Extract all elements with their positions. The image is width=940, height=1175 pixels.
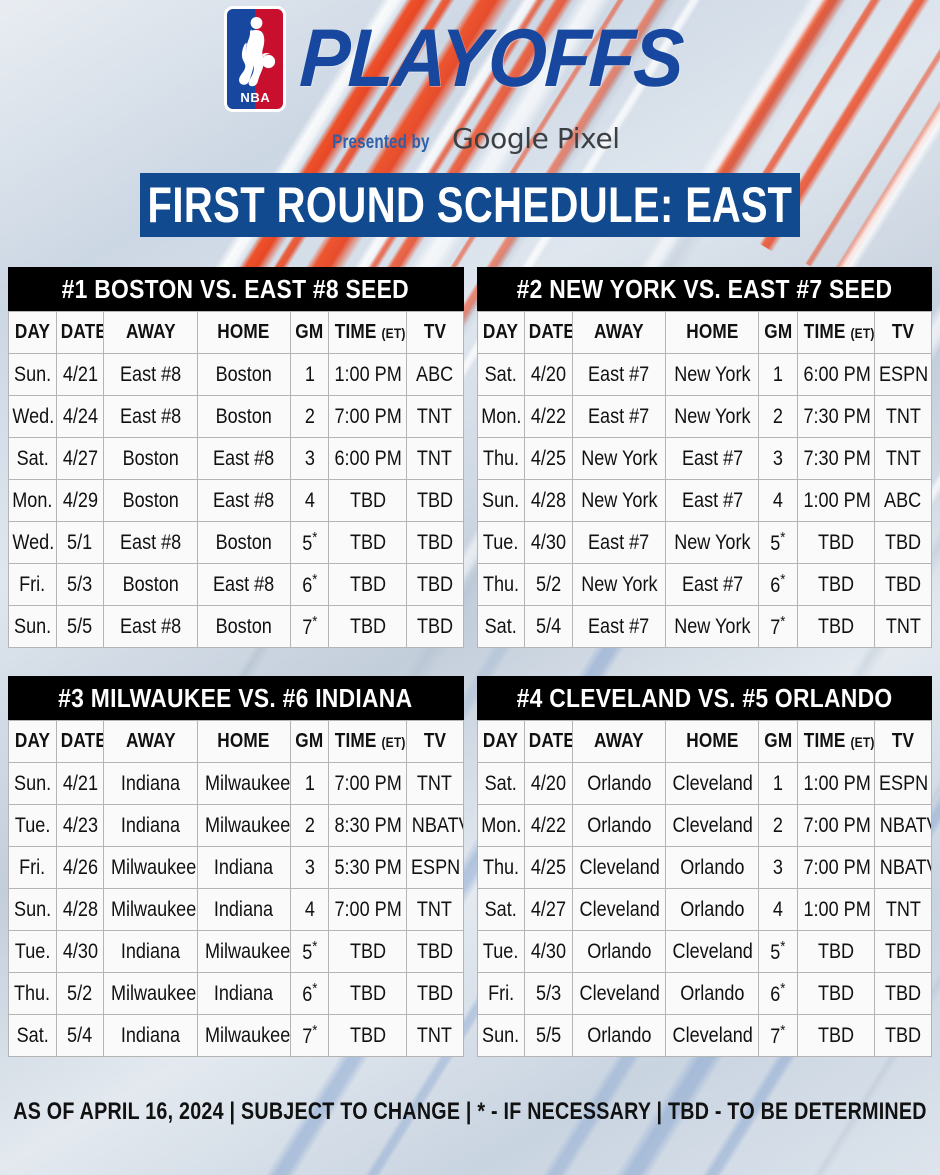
cell-value-date: 4/30	[531, 531, 566, 555]
cell-value-date: 5/4	[68, 1024, 93, 1048]
table-row: Thu.4/25ClevelandOrlando37:00 PMNBATV	[477, 847, 932, 889]
column-header-away: AWAY	[104, 721, 197, 763]
cell-date: 4/30	[56, 931, 104, 973]
cell-value-home: East #7	[682, 489, 743, 513]
cell-value-away: Cleveland	[579, 898, 659, 922]
cell-value-away: New York	[581, 489, 657, 513]
footer: AS OF APRIL 16, 2024 | SUBJECT TO CHANGE…	[0, 1083, 940, 1141]
column-header-day: DAY	[9, 721, 57, 763]
cell-value-away: Orlando	[587, 814, 651, 838]
series-title-bar: #2 NEW YORK VS. EAST #7 SEED	[477, 267, 933, 311]
cell-day: Fri.	[9, 564, 57, 606]
cell-value-home: Milwaukee	[205, 1024, 290, 1048]
cell-away: East #7	[572, 396, 665, 438]
cell-tv: ESPN	[875, 763, 932, 805]
cell-value-tv: TNT	[417, 405, 452, 429]
cell-value-home: Indiana	[214, 982, 273, 1006]
column-header-date: DATE	[56, 312, 104, 354]
cell-home: Cleveland	[666, 931, 759, 973]
cell-value-home: Boston	[216, 405, 272, 429]
cell-home: Boston	[197, 396, 290, 438]
cell-time: 1:00 PM	[329, 354, 406, 396]
cell-value-date: 4/21	[63, 772, 98, 796]
table-row: Sun.4/21East #8Boston11:00 PMABC	[9, 354, 464, 396]
cell-tv: TBD	[406, 522, 463, 564]
table-row: Sun.4/28MilwaukeeIndiana47:00 PMTNT	[9, 889, 464, 931]
game-number: 5*	[771, 938, 786, 965]
cell-away: East #7	[572, 522, 665, 564]
cell-value-time: 7:00 PM	[335, 405, 402, 429]
cell-value-date: 4/27	[63, 447, 98, 471]
cell-value-tv: TNT	[886, 447, 921, 471]
cell-gm: 3	[290, 438, 329, 480]
cell-day: Sat.	[9, 1015, 57, 1057]
cell-gm: 3	[290, 847, 329, 889]
sponsor-logo-text: Google Pixel	[452, 122, 620, 155]
cell-away: Cleveland	[572, 847, 665, 889]
game-number: 6*	[302, 980, 317, 1007]
cell-time: TBD	[797, 973, 874, 1015]
cell-day: Tue.	[477, 931, 525, 973]
cell-away: Indiana	[104, 931, 197, 973]
cell-value-time: TBD	[349, 531, 385, 555]
cell-tv: TNT	[406, 763, 463, 805]
game-number: 7*	[771, 613, 786, 640]
cell-value-date: 4/24	[63, 405, 98, 429]
cell-value-time: TBD	[818, 1024, 854, 1048]
game-number: 3	[305, 447, 315, 471]
cell-time: 7:00 PM	[329, 763, 406, 805]
column-header-date: DATE	[525, 312, 573, 354]
cell-day: Wed.	[9, 396, 57, 438]
cell-value-away: East #7	[588, 405, 649, 429]
table-row: Sat.5/4East #7New York7*TBDTNT	[477, 606, 932, 648]
game-number: 4	[773, 898, 783, 922]
cell-home: New York	[666, 354, 759, 396]
series-title-text: #3 MILWAUKEE VS. #6 INDIANA	[59, 683, 413, 714]
cell-value-date: 4/28	[531, 489, 566, 513]
cell-tv: TNT	[875, 606, 932, 648]
game-number: 2	[305, 405, 315, 429]
cell-value-home: Boston	[216, 531, 272, 555]
cell-tv: TBD	[406, 931, 463, 973]
cell-home: Boston	[197, 354, 290, 396]
game-number: 5*	[302, 529, 317, 556]
time-header-unit: (ET)	[382, 734, 406, 750]
series-panel: #1 BOSTON VS. EAST #8 SEEDDAYDATEAWAYHOM…	[8, 267, 464, 648]
cell-tv: TBD	[875, 931, 932, 973]
cell-away: Orlando	[572, 931, 665, 973]
cell-value-day: Tue.	[15, 940, 50, 964]
cell-value-day: Sat.	[485, 363, 517, 387]
column-header-day: DAY	[477, 721, 525, 763]
cell-value-time: TBD	[349, 940, 385, 964]
cell-gm: 2	[290, 396, 329, 438]
cell-home: Indiana	[197, 973, 290, 1015]
cell-away: Indiana	[104, 805, 197, 847]
cell-value-time: TBD	[349, 982, 385, 1006]
series-title-bar: #1 BOSTON VS. EAST #8 SEED	[8, 267, 464, 311]
header: NBA PLAYOFFS Presented by Google Pixel	[0, 0, 940, 165]
cell-value-tv: NBATV	[880, 814, 932, 838]
cell-time: 7:00 PM	[797, 847, 874, 889]
time-header-unit: (ET)	[850, 734, 874, 750]
playoffs-wordmark: PLAYOFFS	[298, 20, 684, 98]
game-number: 3	[773, 447, 783, 471]
cell-gm: 2	[290, 805, 329, 847]
cell-value-away: Orlando	[587, 940, 651, 964]
cell-value-date: 4/25	[531, 447, 566, 471]
cell-value-time: TBD	[818, 531, 854, 555]
cell-value-away: New York	[581, 573, 657, 597]
cell-value-time: TBD	[349, 615, 385, 639]
cell-tv: TNT	[875, 438, 932, 480]
cell-day: Sat.	[9, 438, 57, 480]
if-necessary-marker: *	[781, 980, 786, 997]
cell-value-day: Sat.	[16, 447, 48, 471]
cell-value-day: Thu.	[483, 447, 519, 471]
if-necessary-marker: *	[312, 980, 317, 997]
if-necessary-marker: *	[312, 938, 317, 955]
cell-home: Orlando	[666, 889, 759, 931]
cell-day: Thu.	[477, 847, 525, 889]
cell-day: Sat.	[477, 354, 525, 396]
cell-gm: 3	[759, 438, 798, 480]
table-row: Sat.4/27BostonEast #836:00 PMTNT	[9, 438, 464, 480]
table-row: Fri.4/26MilwaukeeIndiana35:30 PMESPN	[9, 847, 464, 889]
series-title-text: #2 NEW YORK VS. EAST #7 SEED	[516, 274, 892, 305]
cell-away: New York	[572, 480, 665, 522]
cell-value-tv: TBD	[885, 982, 921, 1006]
cell-value-time: 7:30 PM	[803, 447, 870, 471]
time-header-unit: (ET)	[850, 325, 874, 341]
cell-date: 5/2	[56, 973, 104, 1015]
cell-away: Boston	[104, 438, 197, 480]
cell-away: New York	[572, 564, 665, 606]
cell-away: Milwaukee	[104, 889, 197, 931]
cell-tv: ESPN	[406, 847, 463, 889]
cell-away: Orlando	[572, 805, 665, 847]
cell-value-time: TBD	[818, 573, 854, 597]
cell-gm: 2	[759, 805, 798, 847]
if-necessary-marker: *	[312, 529, 317, 546]
cell-value-tv: TBD	[885, 531, 921, 555]
table-header-row: DAYDATEAWAYHOMEGMTIME (ET)TV	[9, 721, 464, 763]
cell-gm: 6*	[759, 564, 798, 606]
cell-day: Thu.	[477, 438, 525, 480]
cell-value-date: 4/30	[531, 940, 566, 964]
cell-gm: 5*	[759, 522, 798, 564]
nba-player-silhouette-icon	[232, 14, 278, 92]
table-header-row: DAYDATEAWAYHOMEGMTIME (ET)TV	[477, 312, 932, 354]
cell-time: 1:00 PM	[797, 889, 874, 931]
game-number: 5*	[771, 529, 786, 556]
table-row: Sat.4/20OrlandoCleveland11:00 PMESPN	[477, 763, 932, 805]
cell-value-tv: TBD	[417, 573, 453, 597]
presented-by-row: Presented by Google Pixel	[0, 122, 940, 155]
cell-value-time: TBD	[349, 489, 385, 513]
cell-time: TBD	[797, 1015, 874, 1057]
cell-value-date: 4/27	[531, 898, 566, 922]
table-row: Sun.4/21IndianaMilwaukee17:00 PMTNT	[9, 763, 464, 805]
cell-away: Orlando	[572, 763, 665, 805]
cell-gm: 1	[759, 354, 798, 396]
table-row: Sat.4/27ClevelandOrlando41:00 PMTNT	[477, 889, 932, 931]
game-number: 4	[305, 898, 315, 922]
cell-date: 5/4	[56, 1015, 104, 1057]
cell-value-day: Tue.	[483, 531, 518, 555]
cell-value-away: Indiana	[121, 814, 180, 838]
cell-tv: TBD	[875, 522, 932, 564]
column-header-day: DAY	[9, 312, 57, 354]
game-number: 6*	[771, 571, 786, 598]
cell-gm: 3	[759, 847, 798, 889]
cell-value-tv: TNT	[417, 447, 452, 471]
cell-day: Thu.	[477, 564, 525, 606]
cell-time: 7:30 PM	[797, 438, 874, 480]
cell-value-date: 4/22	[531, 814, 566, 838]
game-number: 4	[773, 489, 783, 513]
cell-away: Orlando	[572, 1015, 665, 1057]
cell-value-tv: TBD	[417, 940, 453, 964]
cell-date: 4/21	[56, 354, 104, 396]
cell-value-away: Cleveland	[579, 856, 659, 880]
if-necessary-marker: *	[781, 613, 786, 630]
cell-date: 4/25	[525, 847, 573, 889]
cell-value-time: TBD	[349, 573, 385, 597]
cell-value-tv: NBATV	[411, 814, 463, 838]
cell-value-away: East #7	[588, 531, 649, 555]
cell-gm: 5*	[290, 522, 329, 564]
cell-time: 7:00 PM	[329, 889, 406, 931]
cell-away: East #7	[572, 606, 665, 648]
time-header-unit: (ET)	[382, 325, 406, 341]
cell-value-home: Boston	[216, 615, 272, 639]
cell-value-time: 1:00 PM	[803, 898, 870, 922]
cell-date: 4/20	[525, 354, 573, 396]
cell-date: 5/2	[525, 564, 573, 606]
cell-value-home: Indiana	[214, 898, 273, 922]
cell-value-date: 4/29	[63, 489, 98, 513]
cell-gm: 1	[290, 763, 329, 805]
cell-tv: TNT	[406, 889, 463, 931]
cell-tv: TNT	[406, 1015, 463, 1057]
column-header-home: HOME	[197, 721, 290, 763]
table-row: Fri.5/3ClevelandOrlando6*TBDTBD	[477, 973, 932, 1015]
cell-home: East #7	[666, 564, 759, 606]
cell-value-time: TBD	[818, 615, 854, 639]
cell-value-tv: TBD	[417, 489, 453, 513]
table-row: Sun.5/5OrlandoCleveland7*TBDTBD	[477, 1015, 932, 1057]
cell-date: 4/29	[56, 480, 104, 522]
cell-tv: ABC	[875, 480, 932, 522]
series-schedule-table: DAYDATEAWAYHOMEGMTIME (ET)TVSun.4/21Indi…	[8, 720, 464, 1057]
cell-value-date: 4/20	[531, 772, 566, 796]
cell-value-home: Orlando	[680, 982, 744, 1006]
cell-time: TBD	[797, 931, 874, 973]
cell-time: TBD	[329, 931, 406, 973]
cell-time: TBD	[329, 973, 406, 1015]
column-header-date: DATE	[56, 721, 104, 763]
page-title-conference: EAST	[686, 177, 793, 233]
column-header-home: HOME	[197, 312, 290, 354]
cell-gm: 5*	[759, 931, 798, 973]
cell-tv: TNT	[875, 889, 932, 931]
cell-value-tv: TBD	[417, 982, 453, 1006]
cell-value-date: 5/5	[68, 615, 93, 639]
cell-value-home: Milwaukee	[205, 940, 290, 964]
cell-away: Cleveland	[572, 889, 665, 931]
cell-value-date: 5/3	[68, 573, 93, 597]
column-header-home: HOME	[666, 312, 759, 354]
cell-value-day: Mon.	[481, 405, 521, 429]
cell-date: 5/1	[56, 522, 104, 564]
cell-day: Tue.	[9, 931, 57, 973]
game-number: 1	[305, 772, 315, 796]
cell-value-away: New York	[581, 447, 657, 471]
cell-away: Boston	[104, 480, 197, 522]
cell-value-away: Orlando	[587, 1024, 651, 1048]
cell-away: Milwaukee	[104, 847, 197, 889]
cell-value-time: 1:00 PM	[803, 489, 870, 513]
cell-date: 4/24	[56, 396, 104, 438]
cell-gm: 4	[290, 480, 329, 522]
cell-value-date: 4/23	[63, 814, 98, 838]
cell-value-date: 4/30	[63, 940, 98, 964]
cell-value-home: Boston	[216, 363, 272, 387]
cell-value-time: TBD	[818, 940, 854, 964]
cell-value-away: Orlando	[587, 772, 651, 796]
cell-value-home: Cleveland	[673, 772, 753, 796]
cell-value-day: Mon.	[12, 489, 52, 513]
cell-value-date: 4/26	[63, 856, 98, 880]
cell-day: Sat.	[477, 606, 525, 648]
cell-date: 4/27	[56, 438, 104, 480]
cell-time: TBD	[797, 522, 874, 564]
cell-value-time: 7:00 PM	[335, 898, 402, 922]
series-title-bar: #4 CLEVELAND VS. #5 ORLANDO	[477, 676, 933, 720]
cell-day: Sat.	[477, 763, 525, 805]
cell-tv: NBATV	[406, 805, 463, 847]
cell-value-time: 1:00 PM	[803, 772, 870, 796]
if-necessary-marker: *	[312, 613, 317, 630]
series-schedule-table: DAYDATEAWAYHOMEGMTIME (ET)TVSat.4/20Orla…	[477, 720, 933, 1057]
table-row: Tue.4/30East #7New York5*TBDTBD	[477, 522, 932, 564]
cell-value-home: East #7	[682, 447, 743, 471]
cell-value-tv: TNT	[886, 615, 921, 639]
cell-time: TBD	[329, 606, 406, 648]
cell-value-date: 4/20	[531, 363, 566, 387]
column-header-date: DATE	[525, 721, 573, 763]
cell-value-day: Fri.	[488, 982, 514, 1006]
cell-away: Milwaukee	[104, 973, 197, 1015]
cell-value-home: Orlando	[680, 856, 744, 880]
column-header-time: TIME (ET)	[797, 312, 874, 354]
if-necessary-marker: *	[781, 1022, 786, 1039]
cell-value-date: 4/22	[531, 405, 566, 429]
cell-home: Cleveland	[666, 763, 759, 805]
game-number: 1	[773, 363, 783, 387]
column-header-tv: TV	[875, 721, 932, 763]
cell-day: Mon.	[477, 396, 525, 438]
column-header-gm: GM	[759, 721, 798, 763]
cell-home: Boston	[197, 606, 290, 648]
cell-time: 7:00 PM	[329, 396, 406, 438]
cell-away: Boston	[104, 564, 197, 606]
table-row: Thu.5/2MilwaukeeIndiana6*TBDTBD	[9, 973, 464, 1015]
cell-day: Wed.	[9, 522, 57, 564]
cell-value-day: Sat.	[485, 772, 517, 796]
footer-note: AS OF APRIL 16, 2024 | SUBJECT TO CHANGE…	[13, 1098, 926, 1126]
column-header-time: TIME (ET)	[329, 721, 406, 763]
table-row: Sat.5/4IndianaMilwaukee7*TBDTNT	[9, 1015, 464, 1057]
table-row: Mon.4/29BostonEast #84TBDTBD	[9, 480, 464, 522]
cell-tv: TNT	[406, 438, 463, 480]
cell-value-away: Indiana	[121, 940, 180, 964]
page-title: FIRST ROUND SCHEDULE: EAST	[148, 180, 792, 230]
cell-tv: TNT	[406, 396, 463, 438]
cell-value-day: Sun.	[14, 772, 51, 796]
cell-value-tv: TNT	[886, 405, 921, 429]
cell-gm: 4	[759, 480, 798, 522]
cell-gm: 6*	[290, 973, 329, 1015]
cell-time: 7:00 PM	[797, 805, 874, 847]
cell-away: East #8	[104, 522, 197, 564]
cell-time: 1:00 PM	[797, 763, 874, 805]
cell-value-day: Tue.	[15, 814, 50, 838]
column-header-gm: GM	[759, 312, 798, 354]
cell-value-time: 7:30 PM	[803, 405, 870, 429]
cell-value-away: Boston	[122, 447, 178, 471]
cell-value-tv: TBD	[885, 940, 921, 964]
cell-value-home: East #8	[213, 447, 274, 471]
cell-date: 4/28	[56, 889, 104, 931]
series-panel: #4 CLEVELAND VS. #5 ORLANDODAYDATEAWAYHO…	[477, 676, 933, 1057]
cell-value-tv: TBD	[417, 615, 453, 639]
cell-gm: 4	[759, 889, 798, 931]
cell-value-time: 6:00 PM	[803, 363, 870, 387]
game-number: 5*	[302, 938, 317, 965]
cell-value-away: Boston	[122, 573, 178, 597]
cell-value-time: 7:00 PM	[803, 814, 870, 838]
cell-gm: 7*	[759, 1015, 798, 1057]
cell-time: 7:30 PM	[797, 396, 874, 438]
cell-home: Cleveland	[666, 1015, 759, 1057]
cell-value-time: 7:00 PM	[803, 856, 870, 880]
column-header-gm: GM	[290, 312, 329, 354]
cell-value-away: East #8	[120, 363, 181, 387]
cell-home: Cleveland	[666, 805, 759, 847]
cell-value-date: 5/2	[536, 573, 561, 597]
game-number: 7*	[302, 613, 317, 640]
cell-time: TBD	[329, 522, 406, 564]
cell-value-tv: TBD	[885, 1024, 921, 1048]
cell-date: 4/26	[56, 847, 104, 889]
cell-value-day: Wed.	[12, 405, 54, 429]
series-title-text: #4 CLEVELAND VS. #5 ORLANDO	[516, 683, 892, 714]
cell-gm: 1	[759, 763, 798, 805]
cell-day: Sun.	[477, 480, 525, 522]
table-row: Mon.4/22OrlandoCleveland27:00 PMNBATV	[477, 805, 932, 847]
cell-gm: 6*	[290, 564, 329, 606]
table-row: Tue.4/30IndianaMilwaukee5*TBDTBD	[9, 931, 464, 973]
cell-date: 4/21	[56, 763, 104, 805]
game-number: 2	[773, 405, 783, 429]
cell-day: Sun.	[9, 889, 57, 931]
cell-value-tv: ESPN	[879, 363, 928, 387]
cell-day: Sun.	[477, 1015, 525, 1057]
cell-home: New York	[666, 522, 759, 564]
